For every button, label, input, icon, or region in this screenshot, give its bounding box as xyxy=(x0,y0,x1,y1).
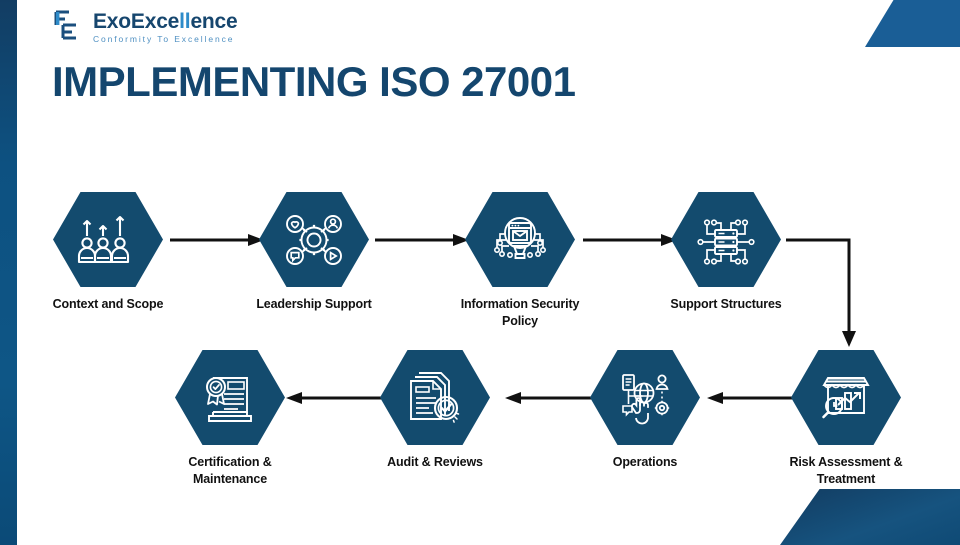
brand-name-part1: ExoExce xyxy=(93,10,179,33)
hexagon-shape xyxy=(465,192,575,287)
hexagon-shape xyxy=(380,350,490,445)
flow-step-information-security-policy[interactable]: Information Security Policy xyxy=(445,192,595,329)
flow-step-audit-and-reviews[interactable]: Audit & Reviews xyxy=(360,350,510,471)
brand-name: ExoExcellence xyxy=(93,11,238,32)
ee-monogram-icon xyxy=(50,8,84,47)
hexagon-shape xyxy=(259,192,369,287)
flow-step-label: Operations xyxy=(613,454,678,471)
server-network-icon xyxy=(695,210,757,270)
flow-step-context-and-scope[interactable]: Context and Scope xyxy=(33,192,183,313)
flow-step-label: Audit & Reviews xyxy=(387,454,483,471)
left-accent-bar xyxy=(0,0,17,545)
flow-step-support-structures[interactable]: Support Structures xyxy=(651,192,801,313)
hexagon-shape xyxy=(590,350,700,445)
flow-step-label: Support Structures xyxy=(670,296,781,313)
top-right-angled-shape xyxy=(865,0,960,47)
hexagon-shape xyxy=(671,192,781,287)
flow-step-risk-assessment-and-treatment[interactable]: Risk Assessment & Treatment xyxy=(771,350,921,487)
brand-logo: ExoExcellence Conformity To Excellence xyxy=(50,8,238,47)
flow-step-label: Risk Assessment & Treatment xyxy=(789,454,902,487)
bottom-right-angled-shape xyxy=(780,489,960,545)
page-title: IMPLEMENTING ISO 27001 xyxy=(52,58,575,106)
brand-name-highlight: ll xyxy=(179,10,190,33)
brand-name-part2: ence xyxy=(190,10,237,33)
flow-step-certification-and-maintenance[interactable]: Certification & Maintenance xyxy=(155,350,305,487)
hexagon-shape xyxy=(791,350,901,445)
brand-tagline: Conformity To Excellence xyxy=(93,35,238,44)
flow-step-leadership-support[interactable]: Leadership Support xyxy=(239,192,389,313)
global-operations-hand-icon xyxy=(615,370,675,426)
slide-canvas: ExoExcellence Conformity To Excellence I… xyxy=(0,0,960,545)
flow-step-label: Context and Scope xyxy=(53,296,164,313)
flow-step-operations[interactable]: Operations xyxy=(570,350,720,471)
certificate-ribbon-icon xyxy=(199,370,261,426)
flow-step-label: Certification & Maintenance xyxy=(188,454,271,487)
gear-network-icon xyxy=(283,210,345,270)
people-growth-arrows-icon xyxy=(77,212,139,268)
flow-step-label: Leadership Support xyxy=(256,296,371,313)
secure-email-circuit-icon xyxy=(489,210,551,270)
hexagon-shape xyxy=(53,192,163,287)
flow-step-label: Information Security Policy xyxy=(461,296,580,329)
documents-checkmark-icon xyxy=(405,369,465,427)
risk-chart-magnifier-icon xyxy=(816,372,876,424)
hexagon-shape xyxy=(175,350,285,445)
